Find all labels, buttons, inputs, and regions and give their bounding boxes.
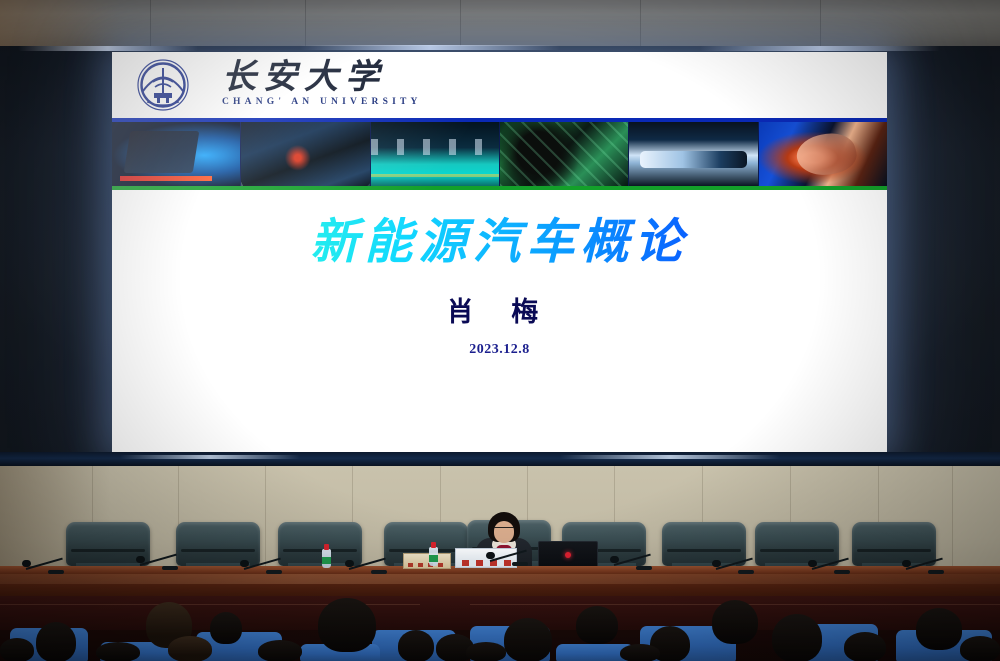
audience-head [466,642,506,661]
ceiling-glint-mid [300,45,560,50]
audience-head [960,636,1000,661]
university-name-cn: 长安大学 [222,58,422,96]
audience-head [36,622,76,661]
projection-screen[interactable]: 长安大学 CHANG' AN UNIVERSITY 新能源汽车概论 肖 梅 20… [112,52,887,452]
nameplate [403,553,451,569]
audience-head [0,638,34,661]
audience-head [504,618,552,661]
audience-area [0,596,1000,661]
water-bottle-2[interactable] [429,542,438,566]
microphone-2[interactable] [136,552,182,570]
photo-panel-assembly-line [371,122,500,186]
audience-head [916,608,962,650]
photo-panel-machine [112,122,241,186]
microphone-4[interactable] [345,556,391,574]
slide-banner-filmstrip [112,118,887,190]
audience-head [620,644,660,661]
photo-panel-car-plant [629,122,758,186]
audience-head [844,632,886,661]
microphone-1[interactable] [22,556,68,574]
university-name-en: CHANG' AN UNIVERSITY [222,97,422,107]
screen-bottom-trim [0,452,1000,466]
audience-head [210,612,242,644]
microphone-8[interactable] [902,556,948,574]
ceiling-panels [0,0,1000,46]
ceiling-glint-right [700,46,940,51]
audience-head [712,600,758,644]
photo-panel-hands-sparks [759,122,887,186]
photo-panel-robot-welding [241,122,370,186]
lecture-hall-photo: 长安大学 CHANG' AN UNIVERSITY 新能源汽车概论 肖 梅 20… [0,0,1000,661]
microphone-presenter[interactable] [486,548,532,566]
audience-head [318,598,376,652]
photo-panel-engine [500,122,629,186]
university-name-block: 长安大学 CHANG' AN UNIVERSITY [222,58,422,107]
audience-head [772,614,822,661]
slide-header: 长安大学 CHANG' AN UNIVERSITY [112,52,887,118]
university-crest-icon [135,58,191,112]
slide-date: 2023.12.8 [112,342,887,358]
microphone-7[interactable] [808,556,854,574]
microphone-3[interactable] [240,556,286,574]
audience-head [258,640,302,661]
microphone-6[interactable] [712,556,758,574]
ceiling-glint-left [18,46,198,51]
audience-head [96,642,140,661]
ceiling-warm-light [0,0,120,46]
eyeglasses-icon [494,527,514,532]
water-bottle-1[interactable] [322,544,331,568]
slide-title: 新能源汽车概论 [112,202,887,272]
audience-head [398,630,434,661]
slide-author: 肖 梅 [112,290,887,329]
audience-head [576,606,618,644]
audience-head [168,636,212,661]
microphone-5[interactable] [610,552,656,570]
